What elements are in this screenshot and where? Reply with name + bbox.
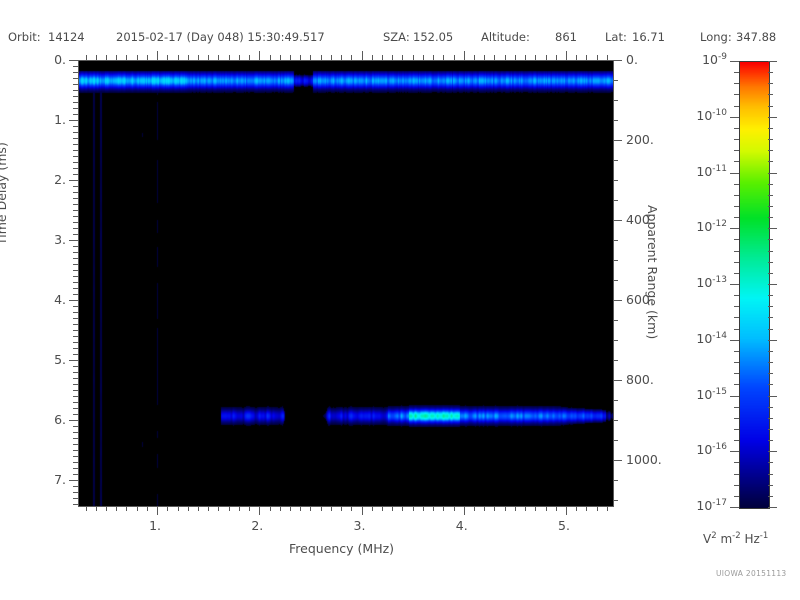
y-right-minor-tick: [613, 480, 618, 481]
colorbar-minor-tick-left: [734, 128, 739, 129]
header-field-value-1: 2015-02-17 (Day 048) 15:30:49.517: [116, 30, 325, 44]
y-right-major-tick: [613, 140, 622, 141]
x-minor-tick: [96, 506, 97, 511]
y-left-minor-tick: [73, 306, 78, 307]
x-minor-tick: [188, 506, 189, 511]
colorbar-tick-label-8: 10-17: [665, 498, 727, 513]
x-top-tick: [270, 55, 271, 60]
y-left-minor-tick: [73, 432, 78, 433]
x-minor-tick: [372, 506, 373, 511]
y-left-minor-tick: [73, 246, 78, 247]
x-top-tick: [239, 55, 240, 60]
y-right-minor-tick: [613, 420, 618, 421]
x-minor-tick: [597, 506, 598, 511]
x-top-tick: [86, 55, 87, 60]
colorbar-tick-label-5: 10-14: [665, 331, 727, 346]
colorbar-minor-tick-right: [768, 262, 773, 263]
x-minor-tick: [270, 506, 271, 511]
x-top-tick: [188, 55, 189, 60]
y-left-minor-tick: [73, 474, 78, 475]
colorbar-minor-tick-left: [734, 317, 739, 318]
y-left-minor-tick: [73, 210, 78, 211]
x-major-tick: [362, 506, 363, 515]
x-top-tick: [290, 55, 291, 60]
y-left-minor-tick: [73, 126, 78, 127]
header-field-value-2: 152.05: [413, 30, 453, 44]
x-top-tick: [423, 55, 424, 60]
y-left-minor-tick: [73, 84, 78, 85]
x-top-tick: [96, 55, 97, 60]
colorbar-minor-tick-left: [734, 362, 739, 363]
colorbar-minor-tick-left: [734, 429, 739, 430]
y-left-tick-label-2: 2.: [6, 172, 66, 187]
y-right-major-tick: [613, 60, 622, 61]
x-minor-tick: [556, 506, 557, 511]
colorbar-tick-label-7: 10-16: [665, 442, 727, 457]
colorbar-minor-tick-right: [768, 373, 773, 374]
x-minor-tick: [454, 506, 455, 511]
spectrogram-image: [79, 61, 613, 506]
y-left-minor-tick: [73, 366, 78, 367]
colorbar-major-tick-left: [730, 396, 739, 397]
x-minor-tick: [474, 506, 475, 511]
y-left-minor-tick: [73, 144, 78, 145]
colorbar-minor-tick-left: [734, 206, 739, 207]
colorbar-minor-tick-right: [768, 317, 773, 318]
x-minor-tick: [147, 506, 148, 511]
y-right-minor-tick: [613, 280, 618, 281]
colorbar-minor-tick-left: [734, 273, 739, 274]
y-right-major-tick: [613, 220, 622, 221]
colorbar-minor-tick-right: [768, 429, 773, 430]
colorbar-minor-tick-right: [768, 306, 773, 307]
y-right-tick-label-5: 1000.: [626, 452, 662, 467]
x-top-tick: [515, 55, 516, 60]
y-left-minor-tick: [73, 324, 78, 325]
x-major-tick: [157, 506, 158, 515]
y-axis-left-title: Time Delay (ms): [0, 45, 9, 245]
x-top-tick: [167, 55, 168, 60]
y-right-minor-tick: [613, 180, 618, 181]
header-field-value-5: 347.88: [736, 30, 776, 44]
x-top-tick: [310, 55, 311, 60]
x-top-tick: [321, 55, 322, 60]
x-minor-tick: [239, 506, 240, 511]
y-right-minor-tick: [613, 500, 618, 501]
x-minor-tick: [484, 506, 485, 511]
colorbar-minor-tick-left: [734, 139, 739, 140]
x-top-tick: [494, 55, 495, 60]
colorbar-minor-tick-left: [734, 83, 739, 84]
x-minor-tick: [331, 506, 332, 511]
x-tick-label-0: 1.: [149, 518, 161, 533]
y-left-minor-tick: [73, 156, 78, 157]
y-left-minor-tick: [73, 444, 78, 445]
y-left-minor-tick: [73, 288, 78, 289]
y-left-minor-tick: [73, 390, 78, 391]
x-minor-tick: [249, 506, 250, 511]
x-top-tick: [607, 55, 608, 60]
x-minor-tick: [167, 506, 168, 511]
colorbar-minor-tick-right: [768, 418, 773, 419]
header-field-5: Long:347.88: [700, 30, 732, 44]
colorbar-major-tick-right: [768, 451, 777, 452]
y-left-minor-tick: [73, 132, 78, 133]
colorbar-tick-label-4: 10-13: [665, 275, 727, 290]
watermark: UIOWA 20151113: [716, 569, 787, 578]
x-minor-tick: [106, 506, 107, 511]
y-right-minor-tick: [613, 240, 618, 241]
x-top-tick: [556, 55, 557, 60]
y-left-tick-label-4: 4.: [6, 292, 66, 307]
x-major-tick: [259, 506, 260, 515]
x-minor-tick: [229, 506, 230, 511]
colorbar-minor-tick-left: [734, 418, 739, 419]
colorbar-minor-tick-right: [768, 496, 773, 497]
x-minor-tick: [208, 506, 209, 511]
colorbar-minor-tick-left: [734, 161, 739, 162]
colorbar-minor-tick-right: [768, 128, 773, 129]
x-tick-label-3: 4.: [456, 518, 468, 533]
colorbar-tick-label-1: 10-10: [665, 108, 727, 123]
y-left-minor-tick: [73, 90, 78, 91]
colorbar-minor-tick-right: [768, 72, 773, 73]
y-left-minor-tick: [73, 222, 78, 223]
x-minor-tick: [423, 506, 424, 511]
x-top-tick: [382, 55, 383, 60]
colorbar-tick-label-6: 10-15: [665, 387, 727, 402]
y-right-minor-tick: [613, 200, 618, 201]
colorbar-major-tick-right: [768, 507, 777, 508]
x-minor-tick: [392, 506, 393, 511]
x-minor-tick: [586, 506, 587, 511]
y-left-minor-tick: [73, 138, 78, 139]
y-left-minor-tick: [73, 348, 78, 349]
x-top-tick: [597, 55, 598, 60]
colorbar-minor-tick-right: [768, 485, 773, 486]
x-tick-label-4: 5.: [558, 518, 570, 533]
x-minor-tick: [116, 506, 117, 511]
y-left-minor-tick: [73, 336, 78, 337]
x-minor-tick: [515, 506, 516, 511]
y-left-minor-tick: [73, 72, 78, 73]
colorbar-minor-tick-right: [768, 273, 773, 274]
colorbar-major-tick-left: [730, 507, 739, 508]
y-left-minor-tick: [73, 294, 78, 295]
y-left-minor-tick: [73, 462, 78, 463]
colorbar-minor-tick-left: [734, 106, 739, 107]
y-axis-right-title: Apparent Range (km): [645, 205, 660, 385]
y-right-minor-tick: [613, 320, 618, 321]
x-minor-tick: [126, 506, 127, 511]
y-right-tick-label-0: 0.: [626, 52, 638, 67]
x-top-tick: [126, 55, 127, 60]
x-minor-tick: [607, 506, 608, 511]
x-top-tick: [198, 55, 199, 60]
header-field-label-4: Lat:: [605, 30, 627, 44]
y-left-minor-tick: [73, 408, 78, 409]
colorbar-major-tick-right: [768, 284, 777, 285]
colorbar-minor-tick-left: [734, 72, 739, 73]
x-top-tick: [331, 55, 332, 60]
colorbar: [739, 61, 768, 507]
colorbar-minor-tick-left: [734, 239, 739, 240]
y-left-minor-tick: [73, 108, 78, 109]
x-minor-tick: [525, 506, 526, 511]
colorbar-minor-tick-left: [734, 440, 739, 441]
colorbar-minor-tick-left: [734, 485, 739, 486]
x-minor-tick: [505, 506, 506, 511]
x-top-tick: [402, 55, 403, 60]
colorbar-minor-tick-right: [768, 362, 773, 363]
colorbar-minor-tick-left: [734, 217, 739, 218]
spectrogram-plot-area: [78, 60, 614, 507]
colorbar-major-tick-right: [768, 340, 777, 341]
y-left-minor-tick: [73, 252, 78, 253]
colorbar-minor-tick-right: [768, 351, 773, 352]
x-top-tick: [525, 55, 526, 60]
y-right-major-tick: [613, 460, 622, 461]
x-major-tick: [464, 506, 465, 515]
x-top-tick: [351, 55, 352, 60]
y-left-minor-tick: [73, 150, 78, 151]
header-field-3: Altitude:861: [481, 30, 530, 44]
x-minor-tick: [382, 506, 383, 511]
colorbar-major-tick-left: [730, 284, 739, 285]
x-top-tick: [157, 51, 158, 60]
x-minor-tick: [86, 506, 87, 511]
colorbar-minor-tick-left: [734, 306, 739, 307]
y-right-minor-tick: [613, 160, 618, 161]
header-field-label-2: SZA:: [383, 30, 410, 44]
y-right-tick-label-1: 200.: [626, 132, 654, 147]
x-top-tick: [116, 55, 117, 60]
colorbar-minor-tick-right: [768, 206, 773, 207]
y-right-major-tick: [613, 300, 622, 301]
x-minor-tick: [321, 506, 322, 511]
x-tick-label-2: 3.: [354, 518, 366, 533]
header-info-line: Orbit:141242015-02-17 (Day 048) 15:30:49…: [0, 30, 800, 46]
colorbar-minor-tick-left: [734, 184, 739, 185]
x-axis-title: Frequency (MHz): [289, 541, 394, 556]
y-left-tick-label-7: 7.: [6, 472, 66, 487]
colorbar-minor-tick-right: [768, 83, 773, 84]
x-top-tick: [218, 55, 219, 60]
colorbar-minor-tick-right: [768, 94, 773, 95]
y-left-minor-tick: [73, 378, 78, 379]
y-left-minor-tick: [73, 318, 78, 319]
y-left-minor-tick: [73, 282, 78, 283]
header-field-1: 2015-02-17 (Day 048) 15:30:49.517: [116, 30, 325, 44]
y-right-major-tick: [613, 380, 622, 381]
y-right-minor-tick: [613, 340, 618, 341]
colorbar-tick-label-0: 10-9: [665, 52, 727, 67]
x-top-tick: [229, 55, 230, 60]
x-minor-tick: [546, 506, 547, 511]
x-minor-tick: [300, 506, 301, 511]
y-left-major-tick: [69, 360, 78, 361]
x-major-tick: [566, 506, 567, 515]
header-field-2: SZA:152.05: [383, 30, 410, 44]
x-minor-tick: [351, 506, 352, 511]
colorbar-major-tick-right: [768, 117, 777, 118]
colorbar-minor-tick-left: [734, 384, 739, 385]
colorbar-minor-tick-right: [768, 106, 773, 107]
colorbar-minor-tick-left: [734, 150, 739, 151]
y-left-minor-tick: [73, 414, 78, 415]
y-left-minor-tick: [73, 426, 78, 427]
x-top-tick: [300, 55, 301, 60]
x-top-tick: [280, 55, 281, 60]
x-top-tick: [178, 55, 179, 60]
header-field-4: Lat:16.71: [605, 30, 627, 44]
colorbar-minor-tick-right: [768, 407, 773, 408]
x-top-tick: [454, 55, 455, 60]
y-left-minor-tick: [73, 96, 78, 97]
colorbar-minor-tick-left: [734, 462, 739, 463]
x-minor-tick: [310, 506, 311, 511]
y-left-minor-tick: [73, 186, 78, 187]
x-top-tick: [137, 55, 138, 60]
y-left-minor-tick: [73, 450, 78, 451]
colorbar-minor-tick-right: [768, 251, 773, 252]
y-right-minor-tick: [613, 360, 618, 361]
x-top-tick: [362, 51, 363, 60]
colorbar-minor-tick-left: [734, 351, 739, 352]
x-top-tick: [106, 55, 107, 60]
y-left-minor-tick: [73, 264, 78, 265]
y-left-minor-tick: [73, 402, 78, 403]
x-top-tick: [392, 55, 393, 60]
x-top-tick: [341, 55, 342, 60]
colorbar-unit-label: V2 m-2 Hz-1: [703, 531, 768, 546]
x-top-tick: [535, 55, 536, 60]
x-top-tick: [249, 55, 250, 60]
x-minor-tick: [535, 506, 536, 511]
x-top-tick: [484, 55, 485, 60]
y-left-tick-label-6: 6.: [6, 412, 66, 427]
y-left-minor-tick: [73, 504, 78, 505]
x-minor-tick: [290, 506, 291, 511]
y-left-minor-tick: [73, 66, 78, 67]
colorbar-minor-tick-right: [768, 474, 773, 475]
colorbar-major-tick-left: [730, 340, 739, 341]
y-right-minor-tick: [613, 80, 618, 81]
colorbar-minor-tick-right: [768, 440, 773, 441]
y-left-minor-tick: [73, 162, 78, 163]
y-left-tick-label-5: 5.: [6, 352, 66, 367]
y-left-major-tick: [69, 120, 78, 121]
x-minor-tick: [178, 506, 179, 511]
colorbar-minor-tick-left: [734, 407, 739, 408]
y-left-minor-tick: [73, 372, 78, 373]
y-left-major-tick: [69, 180, 78, 181]
header-field-label-3: Altitude:: [481, 30, 530, 44]
y-left-minor-tick: [73, 114, 78, 115]
y-left-minor-tick: [73, 102, 78, 103]
colorbar-major-tick-left: [730, 451, 739, 452]
x-top-tick: [586, 55, 587, 60]
colorbar-minor-tick-right: [768, 329, 773, 330]
header-field-value-0: 14124: [48, 30, 85, 44]
y-left-minor-tick: [73, 174, 78, 175]
x-minor-tick: [280, 506, 281, 511]
colorbar-minor-tick-left: [734, 329, 739, 330]
y-right-minor-tick: [613, 100, 618, 101]
y-left-minor-tick: [73, 354, 78, 355]
x-minor-tick: [413, 506, 414, 511]
x-minor-tick: [433, 506, 434, 511]
y-left-minor-tick: [73, 276, 78, 277]
colorbar-major-tick-right: [768, 61, 777, 62]
colorbar-minor-tick-right: [768, 384, 773, 385]
x-minor-tick: [443, 506, 444, 511]
colorbar-minor-tick-right: [768, 161, 773, 162]
x-top-tick: [464, 51, 465, 60]
colorbar-major-tick-right: [768, 228, 777, 229]
y-left-minor-tick: [73, 204, 78, 205]
colorbar-major-tick-left: [730, 173, 739, 174]
y-right-minor-tick: [613, 120, 618, 121]
y-left-minor-tick: [73, 258, 78, 259]
x-top-tick: [505, 55, 506, 60]
colorbar-minor-tick-left: [734, 251, 739, 252]
colorbar-major-tick-left: [730, 228, 739, 229]
y-left-minor-tick: [73, 198, 78, 199]
x-top-tick: [413, 55, 414, 60]
colorbar-tick-label-2: 10-11: [665, 164, 727, 179]
x-minor-tick: [576, 506, 577, 511]
colorbar-minor-tick-right: [768, 462, 773, 463]
x-minor-tick: [198, 506, 199, 511]
colorbar-minor-tick-left: [734, 195, 739, 196]
colorbar-minor-tick-right: [768, 295, 773, 296]
y-left-major-tick: [69, 60, 78, 61]
x-top-tick: [433, 55, 434, 60]
y-left-minor-tick: [73, 468, 78, 469]
y-left-minor-tick: [73, 498, 78, 499]
x-top-tick: [443, 55, 444, 60]
x-minor-tick: [494, 506, 495, 511]
y-left-major-tick: [69, 480, 78, 481]
y-left-major-tick: [69, 420, 78, 421]
header-field-label-5: Long:: [700, 30, 732, 44]
y-left-minor-tick: [73, 438, 78, 439]
colorbar-minor-tick-right: [768, 239, 773, 240]
colorbar-tick-label-3: 10-12: [665, 219, 727, 234]
header-field-value-3: 861: [555, 30, 577, 44]
x-top-tick: [208, 55, 209, 60]
y-left-minor-tick: [73, 216, 78, 217]
y-left-minor-tick: [73, 492, 78, 493]
colorbar-major-tick-right: [768, 396, 777, 397]
y-right-minor-tick: [613, 260, 618, 261]
x-minor-tick: [341, 506, 342, 511]
y-left-minor-tick: [73, 168, 78, 169]
y-left-tick-label-0: 0.: [6, 52, 66, 67]
x-top-tick: [546, 55, 547, 60]
colorbar-major-tick-left: [730, 117, 739, 118]
y-right-minor-tick: [613, 440, 618, 441]
colorbar-minor-tick-right: [768, 184, 773, 185]
colorbar-minor-tick-right: [768, 195, 773, 196]
colorbar-minor-tick-left: [734, 94, 739, 95]
x-tick-label-1: 2.: [251, 518, 263, 533]
y-left-minor-tick: [73, 456, 78, 457]
colorbar-major-tick-right: [768, 173, 777, 174]
colorbar-minor-tick-left: [734, 373, 739, 374]
y-left-minor-tick: [73, 384, 78, 385]
